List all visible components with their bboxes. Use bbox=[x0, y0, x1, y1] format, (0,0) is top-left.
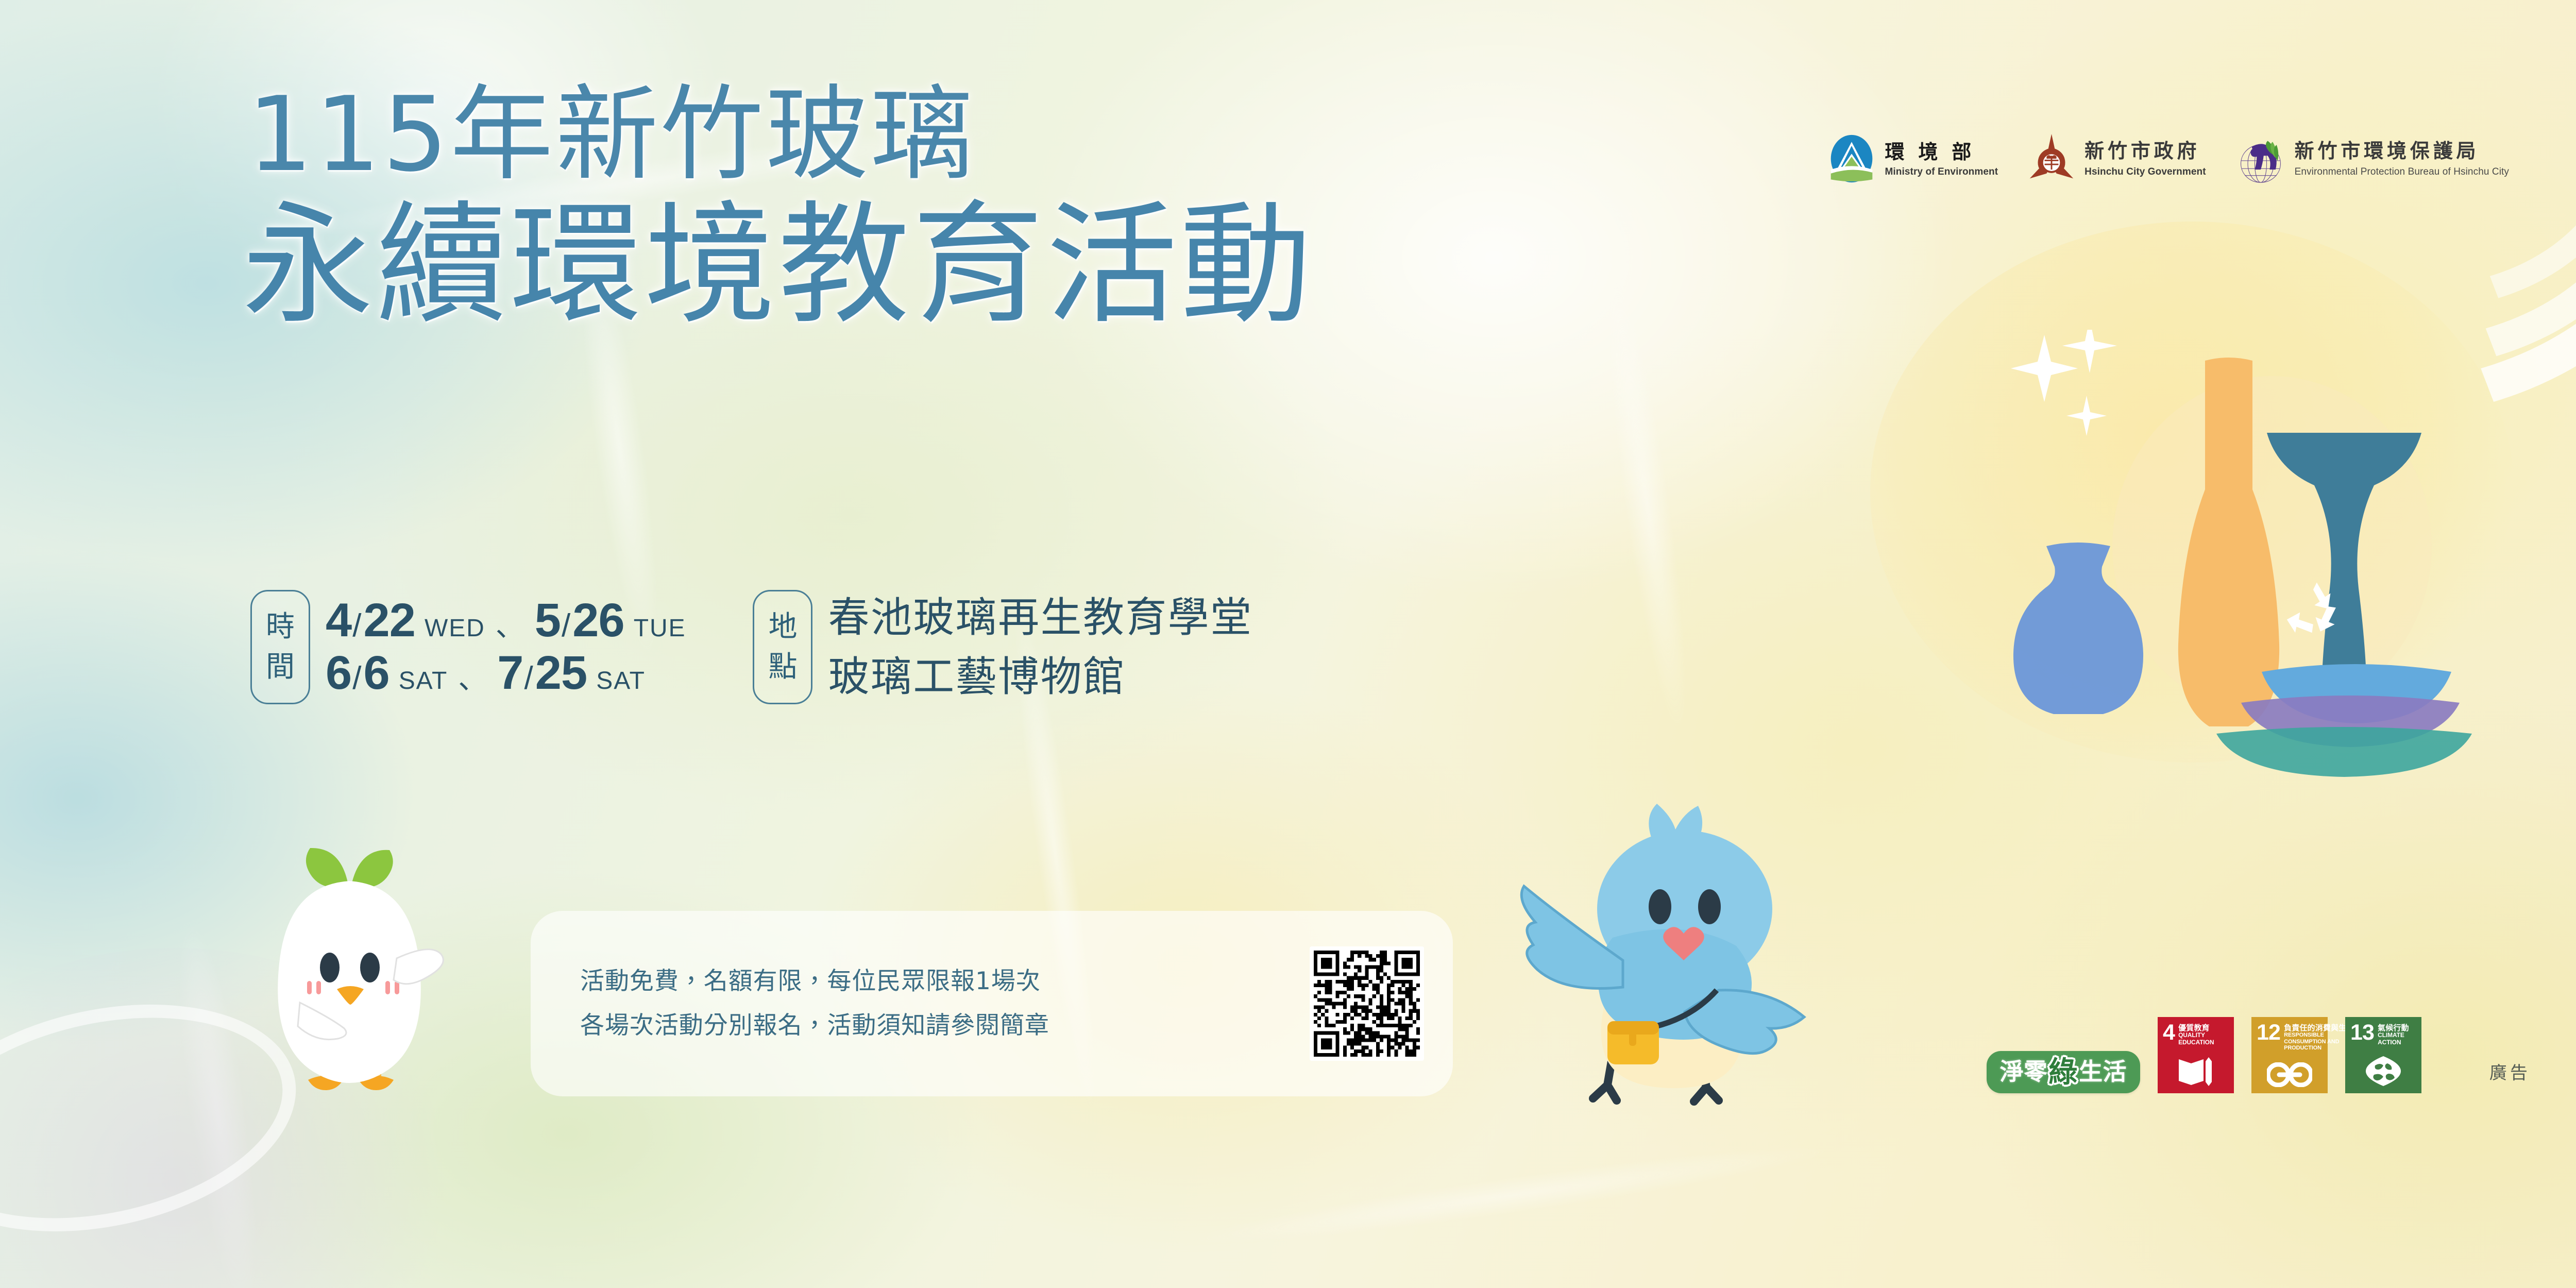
date-slash-icon: / bbox=[562, 607, 570, 644]
globe-eye-icon bbox=[2345, 1055, 2421, 1087]
ministry-of-environment-icon bbox=[1827, 134, 1876, 186]
logo-hsinchu-city-government: 新竹市政府 Hsinchu City Government bbox=[2027, 133, 2206, 187]
date-row-2: 6 / 6 SAT 、 7 / 25 SAT bbox=[326, 649, 686, 698]
title-line-2: 永續環境教育活動 bbox=[242, 195, 1314, 336]
logo-label-en: Ministry of Environment bbox=[1885, 166, 1998, 179]
logo-epb-hsinchu-city: 新竹市環境保護局 Environmental Protection Bureau… bbox=[2235, 133, 2509, 187]
sdg-header: 13 氣候行動 CLIMATE ACTION bbox=[2350, 1023, 2416, 1046]
sdg-number: 13 bbox=[2350, 1023, 2374, 1043]
bottom-badges: 淨零 綠 生活 4 優質教育 QUALITY EDUCATION bbox=[1987, 1017, 2421, 1093]
registration-qr-code[interactable] bbox=[1310, 946, 1424, 1061]
date-slash-icon: / bbox=[524, 660, 533, 697]
event-place-group: 地 點 春池玻璃再生教育學堂 玻璃工藝博物館 bbox=[753, 590, 1252, 704]
date-slash-icon: / bbox=[352, 660, 361, 697]
date-separator: 、 bbox=[458, 656, 487, 698]
partner-logos: 環 境 部 Ministry of Environment bbox=[1827, 133, 2509, 187]
sdg-number: 4 bbox=[2163, 1023, 2175, 1043]
place-tag-char-2: 點 bbox=[768, 653, 797, 682]
sdg-badge-12: 12 負責任的消費與生產 RESPONSIBLE CONSUMPTION AND… bbox=[2251, 1017, 2328, 1093]
date-dow: SAT bbox=[596, 667, 646, 695]
place-line-1: 春池玻璃再生教育學堂 bbox=[828, 590, 1252, 645]
notice-line-2: 各場次活動分別報名，活動須知請參閱簡章 bbox=[580, 1011, 1289, 1040]
infinity-loop-icon bbox=[2251, 1062, 2328, 1087]
time-tag: 時 間 bbox=[250, 590, 310, 704]
sdg-badge-13: 13 氣候行動 CLIMATE ACTION bbox=[2345, 1017, 2421, 1093]
title-line-1: 115年新竹玻璃 bbox=[247, 77, 1314, 193]
bird-satchel-icon bbox=[1607, 1021, 1659, 1064]
time-values: 4 / 22 WED 、 5 / 26 TUE 6 / 6 SAT 、 7 bbox=[326, 590, 686, 704]
place-tag-char-1: 地 bbox=[768, 613, 797, 641]
logo-label-cn: 環 境 部 bbox=[1885, 141, 1998, 163]
sdg-label-cn: 負責任的消費與生產 bbox=[2284, 1024, 2354, 1032]
sdg-header: 12 負責任的消費與生產 RESPONSIBLE CONSUMPTION AND… bbox=[2257, 1023, 2323, 1051]
time-tag-char-2: 間 bbox=[266, 653, 295, 682]
logo-label-cn: 新竹市政府 bbox=[2084, 141, 2206, 163]
date-row-1: 4 / 22 WED 、 5 / 26 TUE bbox=[326, 597, 686, 645]
netzero-part-3: 生活 bbox=[2079, 1060, 2127, 1083]
sdg-labels: 負責任的消費與生產 RESPONSIBLE CONSUMPTION AND PR… bbox=[2284, 1023, 2354, 1051]
date-separator: 、 bbox=[496, 603, 524, 645]
logo-text: 環 境 部 Ministry of Environment bbox=[1885, 141, 1998, 178]
date-slash-icon: / bbox=[352, 607, 361, 644]
sdg-badge-4: 4 優質教育 QUALITY EDUCATION bbox=[2158, 1017, 2234, 1093]
place-values: 春池玻璃再生教育學堂 玻璃工藝博物館 bbox=[828, 590, 1252, 704]
promotional-banner: 115年新竹玻璃 永續環境教育活動 環 境 部 Ministry of Envi… bbox=[0, 0, 2576, 1288]
netzero-part-2: 綠 bbox=[2049, 1058, 2078, 1087]
date-day: 25 bbox=[535, 649, 587, 698]
advertisement-mark: 廣告 bbox=[2489, 1059, 2531, 1084]
qr-code-icon[interactable] bbox=[1314, 951, 1420, 1057]
notice-card: 活動免費，名額有限，每位民眾限報1場次 各場次活動分別報名，活動須知請參閱簡章 bbox=[531, 911, 1453, 1096]
place-tag: 地 點 bbox=[753, 590, 812, 704]
date-day: 26 bbox=[572, 597, 624, 645]
sdg-label-en: QUALITY EDUCATION bbox=[2178, 1032, 2229, 1046]
event-info: 時 間 4 / 22 WED 、 5 / 26 TUE 6 / bbox=[250, 590, 1252, 704]
hsinchu-city-government-icon bbox=[2027, 133, 2076, 187]
date-dow: WED bbox=[425, 614, 485, 642]
sdg-label-cn: 優質教育 bbox=[2178, 1024, 2229, 1032]
date-month: 5 bbox=[535, 597, 561, 645]
sdg-label-en: RESPONSIBLE CONSUMPTION AND PRODUCTION bbox=[2284, 1032, 2354, 1051]
time-tag-char-1: 時 bbox=[266, 613, 295, 641]
sdg-labels: 氣候行動 CLIMATE ACTION bbox=[2378, 1023, 2416, 1046]
sdg-number: 12 bbox=[2257, 1023, 2280, 1043]
netzero-part-1: 淨零 bbox=[2000, 1060, 2048, 1083]
mascot-blue-bird bbox=[1484, 757, 1814, 1108]
open-book-pencil-icon bbox=[2158, 1056, 2234, 1087]
notice-line-1: 活動免費，名額有限，每位民眾限報1場次 bbox=[580, 967, 1289, 996]
date-month: 7 bbox=[497, 649, 523, 698]
date-day: 22 bbox=[363, 597, 415, 645]
teal-bowl bbox=[2216, 727, 2472, 777]
notice-text: 活動免費，名額有限，每位民眾限報1場次 各場次活動分別報名，活動須知請參閱簡章 bbox=[580, 967, 1289, 1041]
sdg-label-cn: 氣候行動 bbox=[2378, 1024, 2416, 1032]
sdg-label-en: CLIMATE ACTION bbox=[2378, 1032, 2416, 1046]
glass-vessels-illustration bbox=[1984, 330, 2488, 783]
sparkle-icon-group bbox=[2011, 330, 2117, 436]
place-line-2: 玻璃工藝博物館 bbox=[828, 649, 1252, 704]
logo-label-en: Hsinchu City Government bbox=[2084, 166, 2206, 179]
date-dow: SAT bbox=[399, 667, 448, 695]
date-month: 6 bbox=[326, 649, 351, 698]
logo-text: 新竹市政府 Hsinchu City Government bbox=[2084, 141, 2206, 178]
date-month: 4 bbox=[326, 597, 351, 645]
date-dow: TUE bbox=[634, 614, 686, 642]
event-time-group: 時 間 4 / 22 WED 、 5 / 26 TUE 6 / bbox=[250, 590, 686, 704]
epb-hsinchu-city-icon bbox=[2235, 133, 2286, 187]
logo-label-en: Environmental Protection Bureau of Hsinc… bbox=[2295, 166, 2509, 179]
logo-text: 新竹市環境保護局 Environmental Protection Bureau… bbox=[2295, 141, 2509, 178]
mascot-sprout-chick bbox=[242, 819, 484, 1097]
page-title: 115年新竹玻璃 永續環境教育活動 bbox=[247, 77, 1314, 336]
netzero-green-living-logo: 淨零 綠 生活 bbox=[1987, 1051, 2140, 1093]
logo-label-cn: 新竹市環境保護局 bbox=[2295, 141, 2509, 163]
sdg-labels: 優質教育 QUALITY EDUCATION bbox=[2178, 1023, 2229, 1046]
date-day: 6 bbox=[363, 649, 389, 698]
logo-ministry-of-environment: 環 境 部 Ministry of Environment bbox=[1827, 134, 1998, 186]
sdg-header: 4 優質教育 QUALITY EDUCATION bbox=[2163, 1023, 2229, 1046]
